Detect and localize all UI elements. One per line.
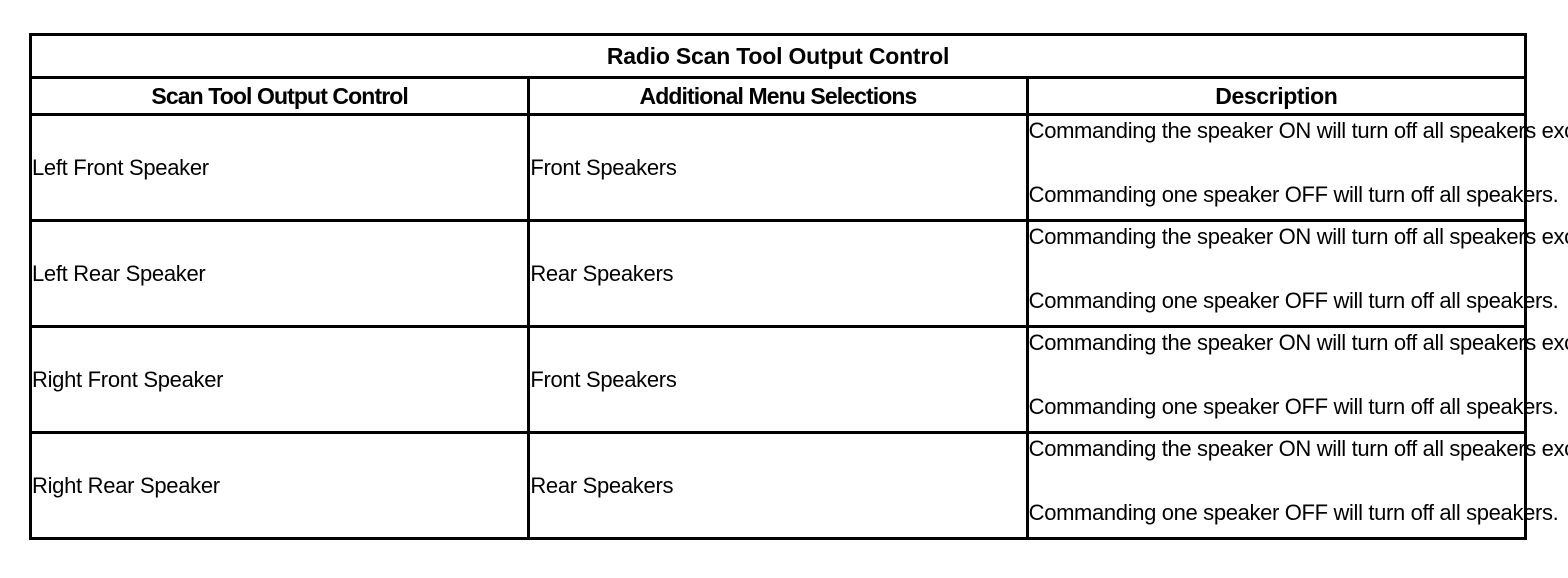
cell-additional-menu-selections: Rear Speakers (529, 221, 1027, 327)
cell-scan-tool-output-control: Left Rear Speaker (31, 221, 529, 327)
table-row: Left Rear Speaker Rear Speakers Commandi… (31, 221, 1526, 327)
description-line-off: Commanding one speaker OFF will turn off… (1029, 184, 1524, 206)
description-line-on: Commanding the speaker ON will turn off … (1029, 438, 1524, 460)
description-line-off: Commanding one speaker OFF will turn off… (1029, 502, 1524, 524)
cell-additional-menu-selections: Rear Speakers (529, 433, 1027, 539)
description-line-on: Commanding the speaker ON will turn off … (1029, 226, 1524, 248)
cell-description: Commanding the speaker ON will turn off … (1027, 221, 1525, 327)
table-title-row: Radio Scan Tool Output Control (31, 35, 1526, 78)
description-content: Commanding the speaker ON will turn off … (1029, 222, 1524, 325)
table-header-row: Scan Tool Output Control Additional Menu… (31, 78, 1526, 115)
description-line-off: Commanding one speaker OFF will turn off… (1029, 396, 1524, 418)
table-row: Right Front Speaker Front Speakers Comma… (31, 327, 1526, 433)
cell-description: Commanding the speaker ON will turn off … (1027, 115, 1525, 221)
description-content: Commanding the speaker ON will turn off … (1029, 116, 1524, 219)
cell-scan-tool-output-control: Left Front Speaker (31, 115, 529, 221)
cell-scan-tool-output-control: Right Front Speaker (31, 327, 529, 433)
cell-scan-tool-output-control: Right Rear Speaker (31, 433, 529, 539)
description-line-on: Commanding the speaker ON will turn off … (1029, 120, 1524, 142)
description-content: Commanding the speaker ON will turn off … (1029, 434, 1524, 537)
cell-additional-menu-selections: Front Speakers (529, 327, 1027, 433)
document-page: Radio Scan Tool Output Control Scan Tool… (0, 0, 1568, 578)
cell-description: Commanding the speaker ON will turn off … (1027, 327, 1525, 433)
table-row: Right Rear Speaker Rear Speakers Command… (31, 433, 1526, 539)
table-title: Radio Scan Tool Output Control (31, 35, 1526, 78)
description-content: Commanding the speaker ON will turn off … (1029, 328, 1524, 431)
table-row: Left Front Speaker Front Speakers Comman… (31, 115, 1526, 221)
column-header-additional-menu-selections: Additional Menu Selections (529, 78, 1027, 115)
description-line-on: Commanding the speaker ON will turn off … (1029, 332, 1524, 354)
radio-scan-tool-output-control-table: Radio Scan Tool Output Control Scan Tool… (29, 33, 1527, 540)
cell-description: Commanding the speaker ON will turn off … (1027, 433, 1525, 539)
column-header-scan-tool-output-control: Scan Tool Output Control (31, 78, 529, 115)
description-line-off: Commanding one speaker OFF will turn off… (1029, 290, 1524, 312)
cell-additional-menu-selections: Front Speakers (529, 115, 1027, 221)
column-header-description: Description (1027, 78, 1525, 115)
